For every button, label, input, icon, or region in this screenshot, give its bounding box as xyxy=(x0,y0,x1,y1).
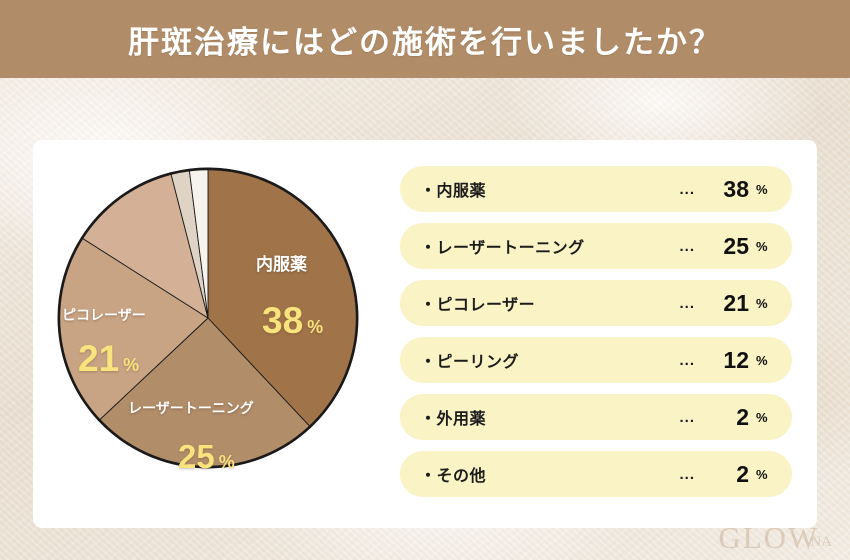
legend-row-label: ・ピコレーザー xyxy=(420,291,535,315)
legend-row-value: 25 xyxy=(707,233,749,260)
legend-row-label: ・ピーリング xyxy=(420,348,519,372)
pie-value-pico-laser-number: 21 xyxy=(78,338,119,379)
pie-label-naifukuyaku: 内服薬 xyxy=(256,250,307,275)
legend-list: ・内服薬...38%・レーザートーニング...25%・ピコレーザー...21%・… xyxy=(400,166,792,497)
legend-row-value: 2 xyxy=(707,404,749,431)
legend-row-dots: ... xyxy=(679,238,695,255)
legend-row-dots: ... xyxy=(679,295,695,312)
legend-row-dots: ... xyxy=(679,352,695,369)
legend-row-value: 38 xyxy=(707,176,749,203)
pie-value-laser-toning: 25% xyxy=(178,440,235,473)
legend-row-label: ・内服薬 xyxy=(420,177,486,201)
legend-row-value: 12 xyxy=(707,347,749,374)
pie-label-laser-toning: レーザートーニング xyxy=(128,398,254,418)
pie-value-pico-laser-unit: % xyxy=(123,355,139,375)
legend-row: ・レーザートーニング...25% xyxy=(400,223,792,269)
legend-row-dots: ... xyxy=(679,466,695,483)
legend-row: ・外用薬...2% xyxy=(400,394,792,440)
legend-row-unit: % xyxy=(756,353,770,368)
infographic-canvas: 肝斑治療にはどの施術を行いましたか？ 内服薬 38% ピコレーザー 21% レー… xyxy=(0,0,850,560)
legend-row-label: ・レーザートーニング xyxy=(420,234,585,258)
legend-row-dots: ... xyxy=(679,409,695,426)
pie-value-pico-laser: 21% xyxy=(78,340,139,377)
pie-value-naifukuyaku-unit: % xyxy=(307,317,323,337)
legend-row: ・ピーリング...12% xyxy=(400,337,792,383)
legend-row: ・内服薬...38% xyxy=(400,166,792,212)
legend-row-label: ・その他 xyxy=(420,462,486,486)
page-title: 肝斑治療にはどの施術を行いましたか？ xyxy=(128,17,722,62)
legend-row-unit: % xyxy=(756,410,770,425)
legend-row-value: 21 xyxy=(707,290,749,317)
legend-row: ・ピコレーザー...21% xyxy=(400,280,792,326)
pie-value-laser-toning-unit: % xyxy=(219,452,235,472)
pie-value-naifukuyaku: 38% xyxy=(262,302,323,339)
legend-row-label: ・外用薬 xyxy=(420,405,486,429)
pie-label-pico-laser: ピコレーザー xyxy=(62,305,146,325)
legend-row-unit: % xyxy=(756,467,770,482)
pie-value-laser-toning-number: 25 xyxy=(178,438,215,475)
legend-row-unit: % xyxy=(756,239,770,254)
legend-row-value: 2 xyxy=(707,461,749,488)
pie-value-naifukuyaku-number: 38 xyxy=(262,300,303,341)
header-bar: 肝斑治療にはどの施術を行いましたか？ xyxy=(0,0,850,78)
legend-row-unit: % xyxy=(756,182,770,197)
legend-row-dots: ... xyxy=(679,181,695,198)
legend-row-unit: % xyxy=(756,296,770,311)
legend-row: ・その他...2% xyxy=(400,451,792,497)
